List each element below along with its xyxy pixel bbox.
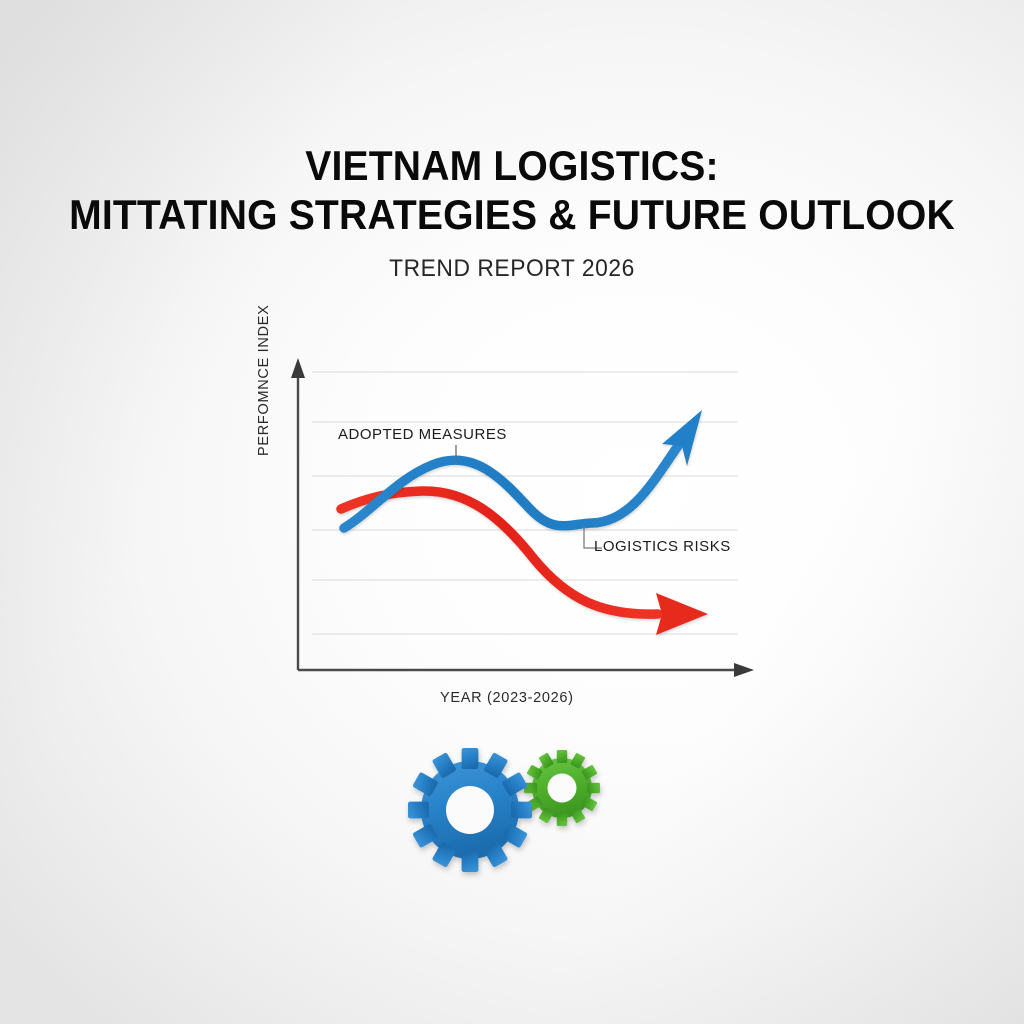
chart-y-axis-label: PERFOMNCE INDEX (256, 305, 272, 457)
chart-x-axis-label: YEAR (2023-2026) (440, 690, 574, 706)
poster-canvas: VIETNAM LOGISTICS: MITTATING STRATEGIES … (0, 0, 1024, 1024)
series-label-adopted-measures: ADOPTED MEASURES (338, 426, 507, 443)
page-subtitle: TREND REPORT 2026 (26, 255, 999, 283)
gears-svg (388, 735, 628, 885)
page-title-line-1: VIETNAM LOGISTICS: (36, 142, 988, 191)
title-block: VIETNAM LOGISTICS: MITTATING STRATEGIES … (0, 142, 1024, 283)
small-green-gear (524, 750, 600, 826)
series-logistics-risks (341, 491, 708, 635)
chart-x-axis (298, 663, 754, 677)
chart-y-axis (291, 358, 305, 670)
series-label-logistics-risks: LOGISTICS RISKS (594, 538, 731, 555)
trend-chart: PERFOMNCE INDEX YEAR (2023-2026) ADOPTED… (262, 348, 762, 693)
gears-graphic (388, 735, 628, 885)
page-title-line-2: MITTATING STRATEGIES & FUTURE OUTLOOK (36, 191, 988, 240)
large-blue-gear (408, 748, 532, 872)
chart-svg (262, 348, 762, 693)
